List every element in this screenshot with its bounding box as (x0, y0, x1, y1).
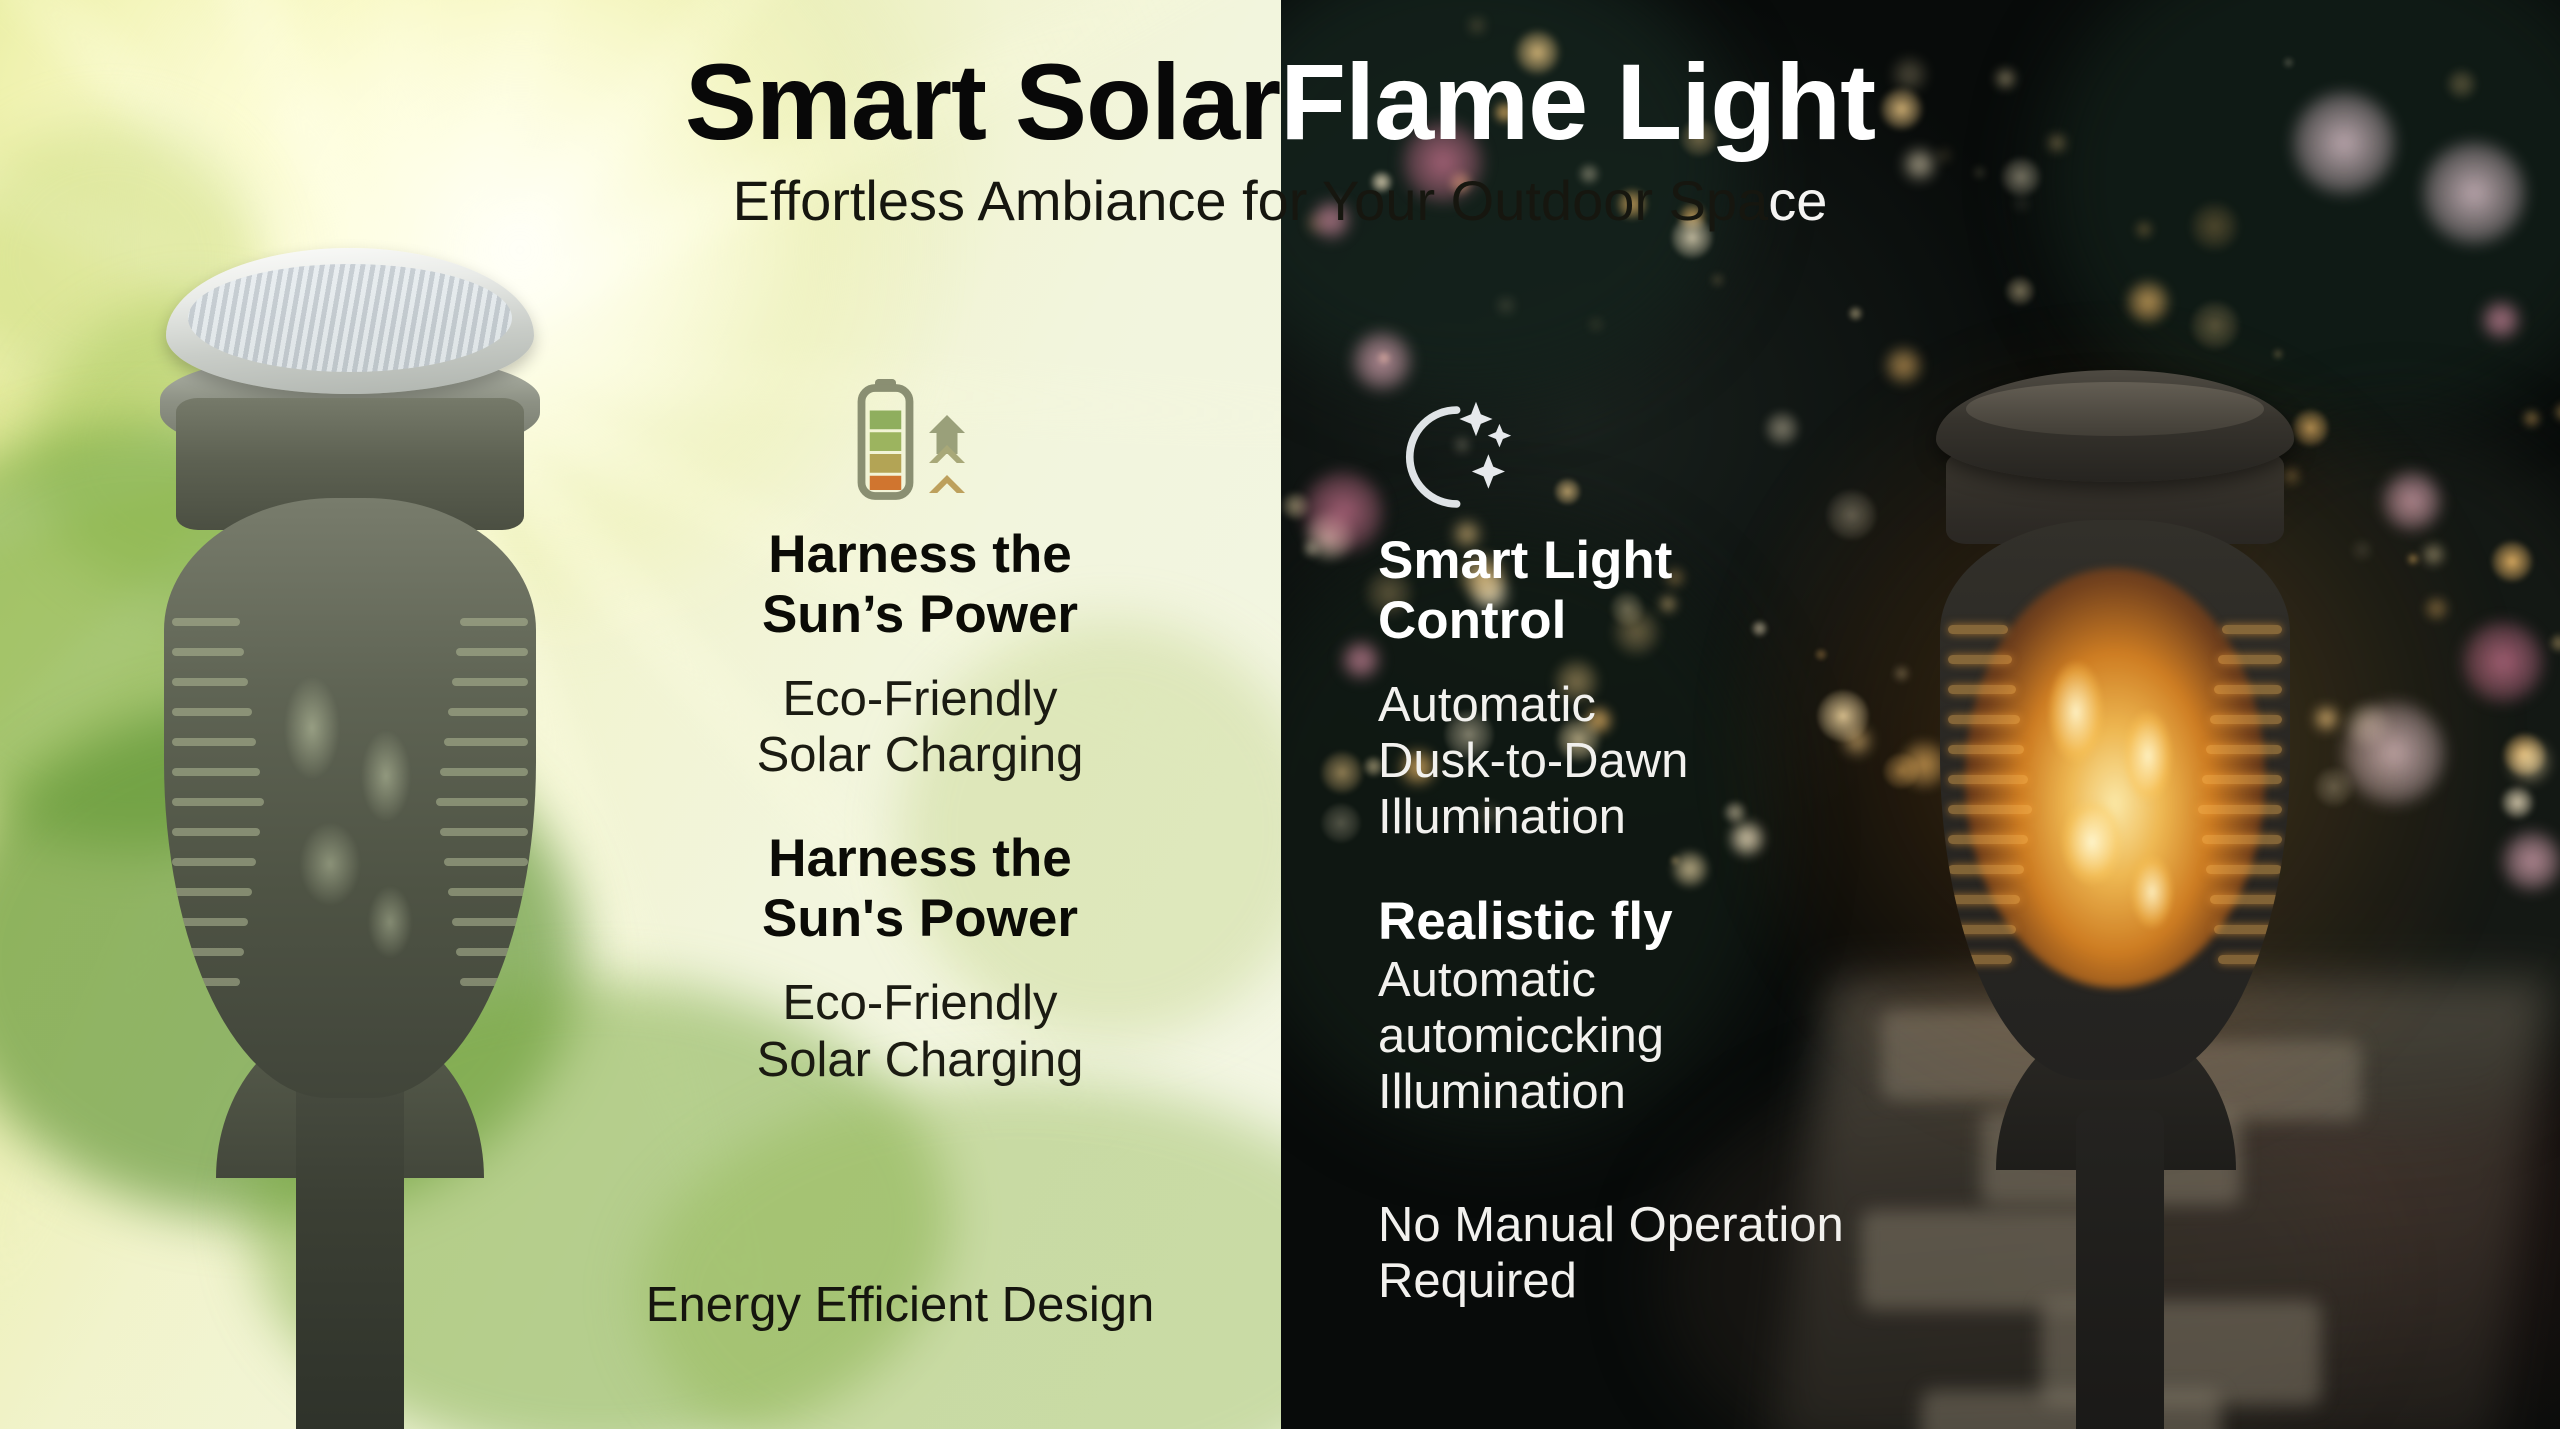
feature-heading: Harness the Sun's Power (640, 829, 1200, 949)
vent-slot (172, 858, 256, 866)
vent-slot (2202, 835, 2282, 844)
vent-slot (448, 888, 528, 896)
vent-slot (1948, 655, 2012, 664)
body-line: Illumination (1378, 1064, 1918, 1120)
day-feature-column: Harness the Sun’s Power Eco-Friendly Sol… (640, 370, 1200, 1088)
feature-body: Automatic automiccking Illumination (1378, 952, 1918, 1121)
vent-slot (1948, 955, 2012, 964)
heading-line: Sun's Power (640, 889, 1200, 949)
vent-slot (2202, 775, 2282, 784)
torch-body (1940, 520, 2290, 1080)
vent-slot (172, 678, 248, 686)
solar-torch-night (1900, 370, 2330, 1429)
night-feature-column: Smart Light Control Automatic Dusk-to-Da… (1378, 388, 1918, 1309)
flower-blur (1301, 470, 1385, 554)
filigree-cutout (260, 668, 440, 998)
vent-slot (172, 618, 240, 626)
vent-slot (172, 648, 244, 656)
vent-slot (456, 648, 528, 656)
vent-slot (452, 918, 528, 926)
torch-stake (296, 1048, 404, 1429)
vent-slot (1948, 895, 2020, 904)
vent-slot (460, 978, 528, 986)
vent-slot (2214, 685, 2282, 694)
vent-slot (2206, 865, 2282, 874)
subtitle-part-a: Effortless Ambiance for Your Outdoor Spa (733, 169, 1769, 232)
vent-slot (444, 858, 528, 866)
solar-panel-cap (1936, 370, 2294, 482)
body-line: automiccking (1378, 1008, 1918, 1064)
vent-slot (1948, 715, 2020, 724)
heading-line: Harness the (640, 829, 1200, 889)
flower-blur (1341, 640, 1381, 680)
vent-slot (172, 708, 252, 716)
vent-slot (440, 828, 528, 836)
flower-blur (2501, 830, 2560, 892)
page-title: Smart SolarFlame Light (0, 0, 2560, 156)
vent-slot (2198, 805, 2282, 814)
vent-slot (436, 798, 528, 806)
body-line: Solar Charging (640, 727, 1200, 783)
feature-heading: Smart Light Control (1378, 531, 1918, 651)
bokeh-light (2005, 276, 2035, 306)
flower-blur (2461, 620, 2545, 704)
vent-slot (1948, 805, 2032, 814)
product-infographic: Smart SolarFlame Light Effortless Ambian… (0, 0, 2560, 1429)
solar-panel (166, 248, 534, 394)
vent-slot (1948, 745, 2024, 754)
feature-heading: Harness the Sun’s Power (640, 525, 1200, 645)
vent-slot (2210, 715, 2282, 724)
flower-blur (2481, 300, 2521, 340)
feature-body: Eco-Friendly Solar Charging (640, 671, 1200, 784)
bokeh-light (1848, 306, 1862, 320)
torch-body (164, 498, 536, 1098)
body-line: Dusk-to-Dawn (1378, 733, 1918, 789)
body-line: Eco-Friendly (640, 671, 1200, 727)
vent-slot (172, 828, 260, 836)
vent-slot (2210, 895, 2282, 904)
vent-slot (1948, 775, 2028, 784)
feature-heading: Realistic fly (1378, 892, 1918, 952)
vent-slot (2218, 955, 2282, 964)
vent-slot (1948, 685, 2016, 694)
vent-slot (172, 768, 260, 776)
vent-slot (1948, 625, 2008, 634)
bokeh-light (2522, 409, 2540, 427)
vent-slot (440, 768, 528, 776)
vent-slot (444, 738, 528, 746)
body-line: Eco-Friendly (640, 975, 1200, 1031)
flower-blur (2381, 470, 2443, 532)
body-line: Required (1378, 1253, 1918, 1309)
vent-slot (2218, 655, 2282, 664)
body-line: Illumination (1378, 789, 1918, 845)
heading-line: Realistic fly (1378, 892, 1918, 952)
heading-line: Harness the (640, 525, 1200, 585)
heading-line: Sun’s Power (640, 585, 1200, 645)
solar-torch-day (120, 248, 580, 1429)
body-line: Solar Charging (640, 1032, 1200, 1088)
vent-slot (448, 708, 528, 716)
moon-stars-icon (1378, 388, 1918, 531)
vent-slot (1948, 925, 2016, 934)
bokeh-light (2554, 402, 2560, 422)
feature-body: Eco-Friendly Solar Charging (640, 975, 1200, 1088)
vent-slot (1948, 865, 2024, 874)
page-subtitle: Effortless Ambiance for Your Outdoor Spa… (0, 172, 2560, 231)
battery-charging-icon (640, 370, 1200, 525)
vent-slot (2214, 925, 2282, 934)
bokeh-light (1713, 275, 1723, 285)
vent-slot (172, 738, 256, 746)
vent-slot (172, 888, 252, 896)
vent-slot (456, 948, 528, 956)
vent-slot (172, 948, 244, 956)
heading-line: Smart Light (1378, 531, 1918, 591)
vent-slot (2222, 625, 2282, 634)
flower-blur (2341, 700, 2447, 806)
body-line: Automatic (1378, 677, 1918, 733)
body-line: Automatic (1378, 952, 1918, 1008)
body-line: No Manual Operation (1378, 1197, 1918, 1253)
vent-slot (172, 918, 248, 926)
subtitle-part-b: ce (1768, 169, 1827, 232)
vent-slot (1948, 835, 2028, 844)
title-part-solar: Smart Solar (685, 41, 1280, 162)
vent-slot (172, 978, 240, 986)
feature-body: Automatic Dusk-to-Dawn Illumination (1378, 677, 1918, 846)
vent-slot (172, 798, 264, 806)
feature-body: No Manual Operation Required (1378, 1197, 1918, 1310)
flower-blur (1351, 330, 1413, 392)
header: Smart SolarFlame Light Effortless Ambian… (0, 0, 2560, 231)
title-part-flame: Flame Light (1280, 41, 1875, 162)
vent-slot (460, 618, 528, 626)
vent-slot (452, 678, 528, 686)
torch-stake (2076, 1110, 2164, 1429)
vent-slot (2206, 745, 2282, 754)
energy-efficient-note: Energy Efficient Design (560, 1277, 1240, 1333)
heading-line: Control (1378, 591, 1918, 651)
flame-filigree-cutout (2032, 660, 2198, 960)
